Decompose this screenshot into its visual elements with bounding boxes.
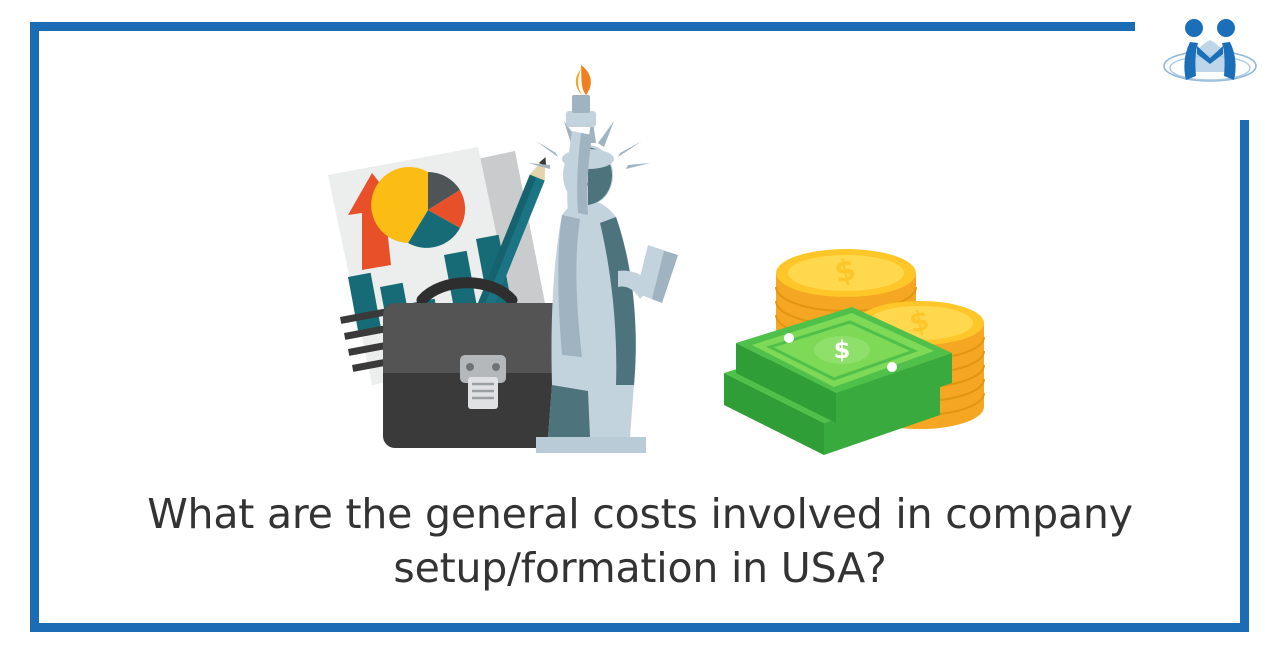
frame-right-border — [1240, 120, 1249, 632]
page-title: What are the general costs involved in c… — [110, 487, 1170, 595]
page-title-line-1: What are the general costs involved in c… — [110, 487, 1170, 541]
svg-text:$: $ — [834, 336, 851, 364]
frame-bottom-border — [30, 623, 1249, 632]
frame-top-border — [30, 22, 1135, 31]
usa-company-setup-costs-illustration: $ $ — [300, 55, 1000, 465]
slide-canvas: $ $ — [0, 0, 1280, 650]
frame-left-border — [30, 22, 39, 632]
page-title-line-2: setup/formation in USA? — [110, 541, 1170, 595]
logo-figure-head-right — [1217, 19, 1235, 37]
company-logo[interactable] — [1160, 10, 1260, 110]
logo-figure-head-left — [1185, 19, 1203, 37]
